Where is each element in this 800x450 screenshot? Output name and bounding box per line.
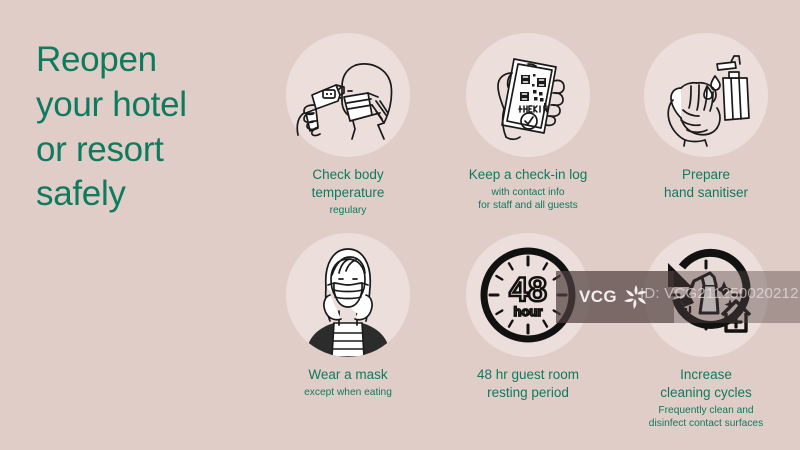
card-title: 48 hr guest room resting period bbox=[438, 366, 618, 402]
card-title: Keep a check-in log bbox=[438, 166, 618, 184]
card-title-line-2: temperature bbox=[312, 185, 385, 200]
card-title-line-2: hand sanitiser bbox=[664, 185, 748, 200]
card-title-line-2: resting period bbox=[487, 385, 569, 400]
badge-48hr-resting-period: 48 hour bbox=[466, 233, 590, 357]
headline-line-3: or resort bbox=[36, 128, 266, 173]
card-subtitle-line-1: regulary bbox=[258, 204, 438, 217]
card-subtitle-line-1: except when eating bbox=[258, 386, 438, 399]
badge-check-body-temperature bbox=[286, 33, 410, 157]
card-title: Check body temperature bbox=[258, 166, 438, 202]
card-prepare-hand-sanitiser: Prepare hand sanitiser bbox=[616, 33, 796, 204]
card-subtitle-line-2: disinfect contact surfaces bbox=[616, 417, 796, 430]
headline-line-2: your hotel bbox=[36, 83, 266, 128]
card-keep-checkin-log: Keep a check-in log with contact info fo… bbox=[438, 33, 618, 213]
card-title: Increase cleaning cycles bbox=[616, 366, 796, 402]
card-title: Prepare hand sanitiser bbox=[616, 166, 796, 202]
card-increase-cleaning-cycles: Increase cleaning cycles Frequently clea… bbox=[616, 233, 796, 431]
cleaning-cycle-spray-icon bbox=[652, 241, 760, 349]
card-subtitle-line-2: for staff and all guests bbox=[438, 199, 618, 212]
card-title-line-1: Increase bbox=[680, 367, 732, 382]
card-wear-a-mask: Wear a mask except when eating bbox=[258, 233, 438, 399]
card-title-line-1: Wear a mask bbox=[308, 367, 387, 382]
card-subtitle: with contact info for staff and all gues… bbox=[438, 186, 618, 213]
card-check-body-temperature: Check body temperature regulary bbox=[258, 33, 438, 217]
card-title-line-2: cleaning cycles bbox=[660, 385, 752, 400]
person-wearing-mask-icon bbox=[286, 233, 410, 357]
card-subtitle: Frequently clean and disinfect contact s… bbox=[616, 404, 796, 431]
card-subtitle: except when eating bbox=[258, 386, 438, 399]
badge-prepare-hand-sanitiser bbox=[644, 33, 768, 157]
badge-keep-checkin-log bbox=[466, 33, 590, 157]
card-title-line-1: Check body bbox=[312, 167, 383, 182]
card-subtitle-line-1: with contact info bbox=[438, 186, 618, 199]
card-title-line-1: Keep a check-in log bbox=[469, 167, 588, 182]
poster-canvas: Reopen your hotel or resort safely bbox=[0, 0, 800, 450]
phone-qr-checkin-icon bbox=[474, 41, 582, 149]
clock-48-hour-icon: 48 hour bbox=[476, 243, 580, 347]
clock-unit-hour: hour bbox=[514, 304, 543, 319]
card-subtitle-line-1: Frequently clean and bbox=[616, 404, 796, 417]
card-subtitle: regulary bbox=[258, 204, 438, 217]
page-title: Reopen your hotel or resort safely bbox=[36, 38, 266, 217]
headline-line-4: safely bbox=[36, 172, 266, 217]
card-title-line-1: 48 hr guest room bbox=[477, 367, 579, 382]
badge-wear-a-mask bbox=[286, 233, 410, 357]
card-title-line-1: Prepare bbox=[682, 167, 730, 182]
card-title: Wear a mask bbox=[258, 366, 438, 384]
hand-sanitiser-pump-icon bbox=[651, 42, 761, 148]
thermometer-forehead-icon bbox=[292, 43, 404, 147]
headline-line-1: Reopen bbox=[36, 38, 266, 83]
card-48hr-resting-period: 48 hour 48 hr guest room resting period bbox=[438, 233, 618, 404]
badge-increase-cleaning-cycles bbox=[644, 233, 768, 357]
